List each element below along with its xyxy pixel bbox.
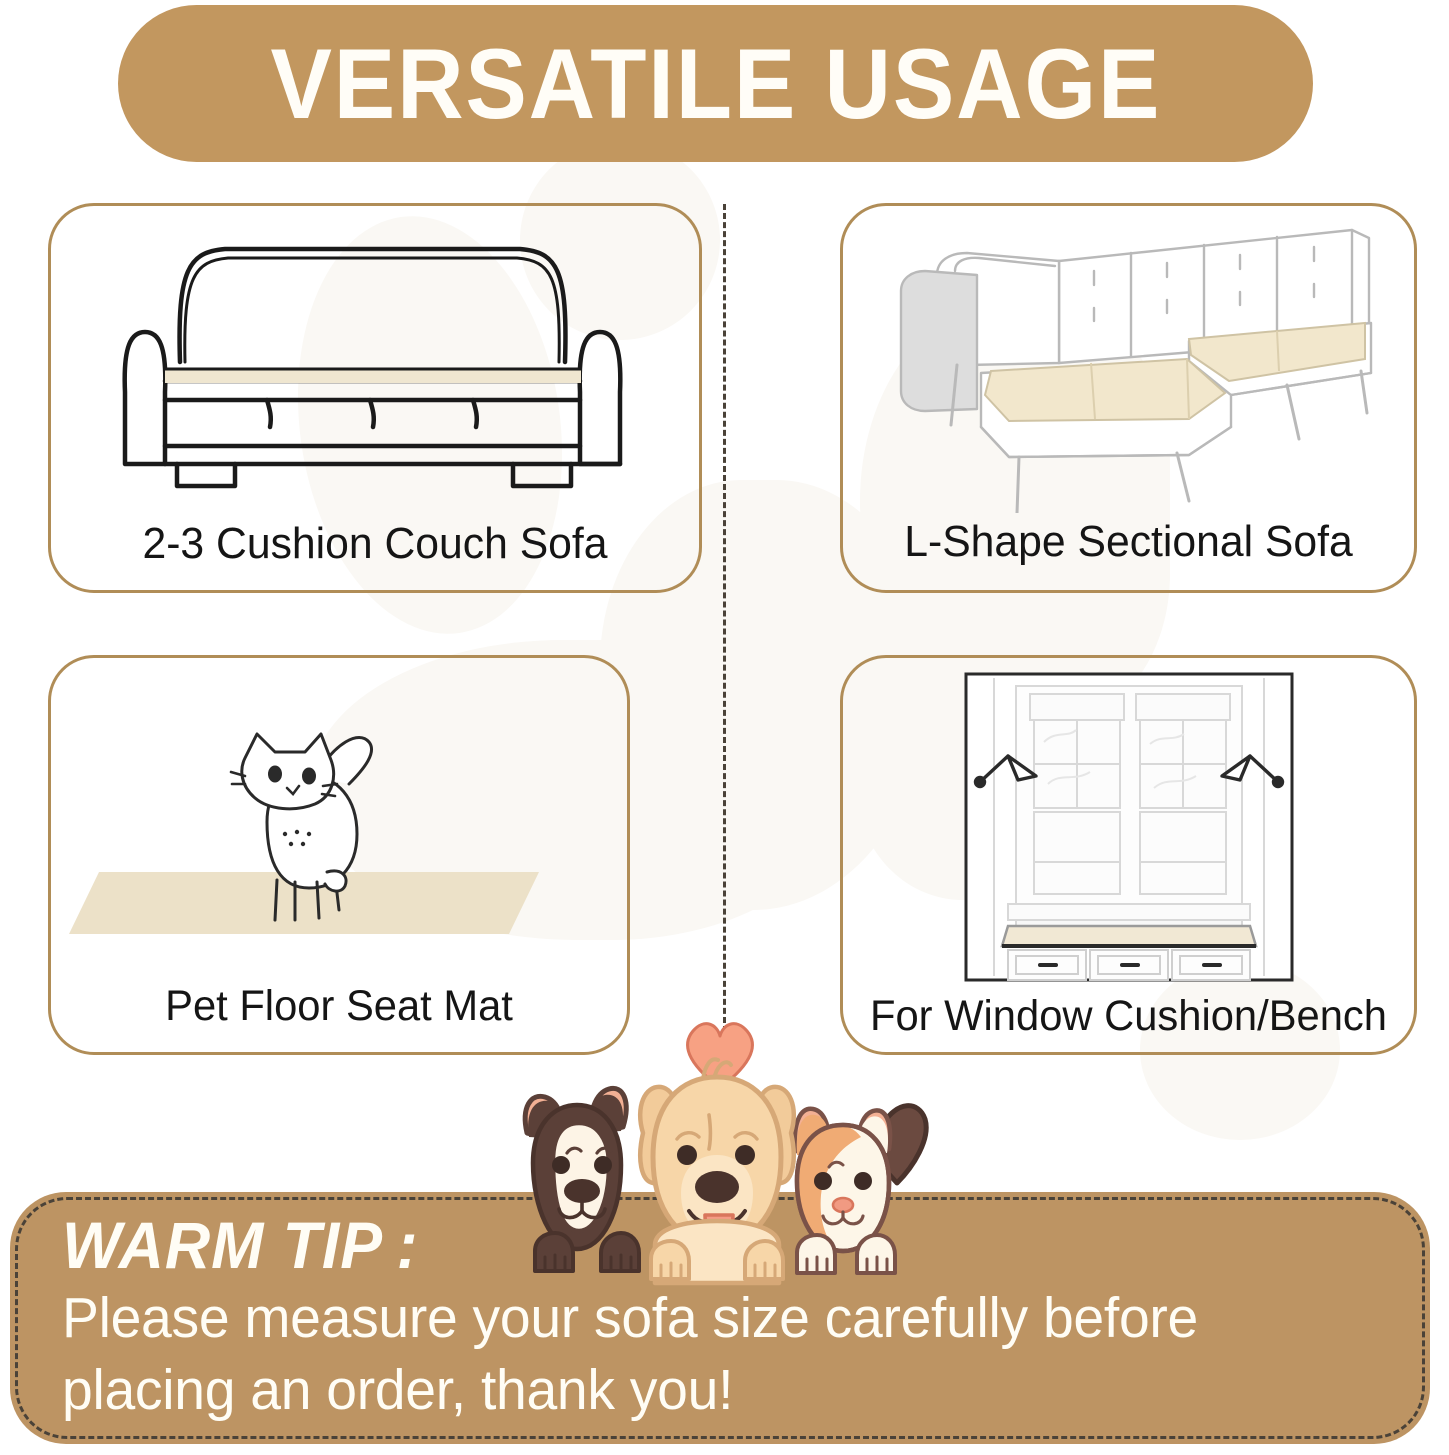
usage-card-couch-sofa: 2-3 Cushion Couch Sofa: [48, 203, 702, 593]
cushion-cover-strip: [165, 369, 581, 383]
cat-eye-right: [854, 1172, 872, 1190]
window-bench-illustration: [843, 658, 1414, 995]
sectional-sofa-illustration: [843, 206, 1414, 520]
usage-card-pet-mat: Pet Floor Seat Mat: [48, 655, 630, 1055]
usage-card-window-bench: For Window Cushion/Bench: [840, 655, 1417, 1055]
pets-illustration: [505, 1015, 945, 1315]
cat-eye-left: [814, 1172, 832, 1190]
frenchie-eye-left: [552, 1156, 570, 1174]
bench-cushion: [1002, 926, 1256, 946]
page-title: VERSATILE USAGE: [270, 34, 1161, 133]
usage-card-sectional-sofa: L-Shape Sectional Sofa: [840, 203, 1417, 593]
puppy-nose: [695, 1171, 739, 1203]
puppy-eye-right: [735, 1145, 755, 1165]
frenchie-eye-right: [594, 1156, 612, 1174]
cat-nose: [833, 1198, 853, 1212]
cat: [795, 1106, 926, 1273]
pet-mat-illustration: [51, 658, 627, 985]
page-header-banner: VERSATILE USAGE: [118, 5, 1313, 162]
couch-sofa-illustration: [51, 206, 699, 522]
usage-card-label: L-Shape Sectional Sofa: [852, 520, 1406, 590]
cat-eye-left: [268, 765, 282, 782]
french-bulldog: [525, 1088, 639, 1271]
usage-card-label: 2-3 Cushion Couch Sofa: [61, 522, 690, 590]
cat-eye-right: [302, 767, 316, 784]
column-divider: [723, 204, 726, 1032]
golden-retriever-puppy: [640, 1059, 794, 1283]
warm-tip-line-2: placing an order, thank you!: [62, 1357, 1346, 1424]
puppy-eye-left: [677, 1145, 697, 1165]
